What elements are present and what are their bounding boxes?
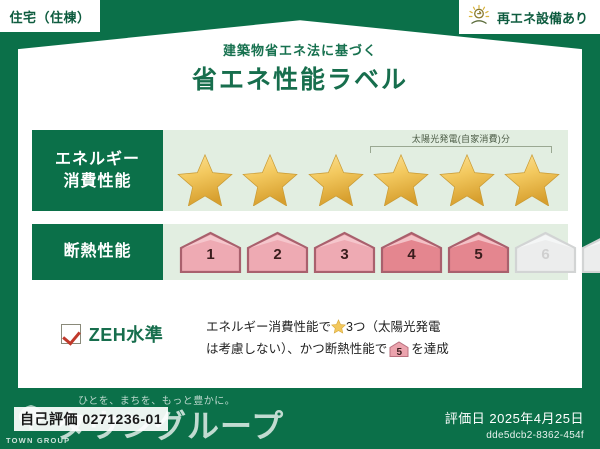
- insulation-performance-body: 1234567: [163, 224, 568, 280]
- inline-badge-value: 5: [389, 344, 409, 362]
- watermark-brand: タウングループ: [55, 401, 284, 447]
- zeh-desc-line2-part1: は考慮しない）、かつ断熱性能で: [206, 342, 387, 356]
- insulation-step-value: 2: [246, 246, 309, 263]
- insulation-step: 3: [313, 231, 376, 273]
- insulation-step-value: 3: [313, 246, 376, 263]
- evaluation-id: dde5dcb2-8362-454f: [445, 430, 584, 441]
- insulation-step: 6: [514, 231, 577, 273]
- label-subtitle: 建築物省エネ法に基づく: [0, 40, 600, 59]
- energy-label-card: 住宅（住棟） 再エネ設備あり 建築物省エネ法に基: [0, 0, 600, 449]
- renewable-equipment-badge: 再エネ設備あり: [459, 0, 600, 34]
- energy-star-rating: [177, 151, 560, 207]
- zeh-desc-part1: エネルギー消費性能で: [206, 320, 331, 334]
- insulation-performance-row: 断熱性能 1234567: [32, 224, 568, 280]
- star-icon: [504, 153, 560, 206]
- solar-annotation: 太陽光発電(自家消費)分: [370, 132, 552, 153]
- insulation-step: 1: [179, 231, 242, 273]
- insulation-step: 5: [447, 231, 510, 273]
- star-icon: [177, 153, 233, 206]
- star-icon: [242, 153, 298, 206]
- insulation-step: 4: [380, 231, 443, 273]
- energy-performance-label: エネルギー 消費性能: [32, 130, 163, 211]
- energy-label-line2: 消費性能: [63, 171, 131, 193]
- insulation-label-text: 断熱性能: [63, 241, 131, 263]
- housing-type-chip: 住宅（住棟）: [0, 0, 100, 32]
- sun-solar-icon: [467, 4, 491, 31]
- insulation-scale: 1234567: [179, 231, 600, 273]
- watermark-group-mark: TOWN GROUP: [6, 436, 70, 445]
- zeh-desc-part2: 3つ（太陽光発電: [346, 320, 440, 334]
- insulation-performance-label: 断熱性能: [32, 224, 163, 280]
- insulation-step-value: 4: [380, 246, 443, 263]
- energy-label-line1: エネルギー: [55, 149, 140, 171]
- watermark-tagline: ひとを、まちを、もっと豊かに。: [78, 392, 235, 407]
- zeh-chip: ZEH水準: [32, 315, 192, 347]
- insulation-level-badge-inline: 5: [389, 341, 409, 357]
- tree-logo-icon: [14, 403, 48, 433]
- zeh-desc-line2-part2: を達成: [411, 342, 449, 356]
- footer-meta: 評価日 2025年4月25日 dde5dcb2-8362-454f: [445, 408, 584, 441]
- insulation-step: 7: [581, 231, 600, 273]
- housing-type-label: 住宅（住棟）: [9, 7, 90, 26]
- page-title: 省エネ性能ラベル: [0, 60, 600, 96]
- solar-annotation-text: 太陽光発電(自家消費)分: [370, 132, 552, 145]
- star-icon: [439, 153, 495, 206]
- star-icon: [308, 153, 364, 206]
- insulation-step-value: 7: [581, 246, 600, 263]
- renewable-badge-label: 再エネ設備あり: [497, 8, 588, 27]
- zeh-section: ZEH水準 エネルギー消費性能で3つ（太陽光発電 は考慮しない）、かつ断熱性能で…: [32, 315, 568, 361]
- energy-performance-row: エネルギー 消費性能 太陽光発電(自家消費)分: [32, 130, 568, 211]
- watermark-overlay: ひとを、まちを、もっと豊かに。 タウングループ TOWN GROUP 自己評価 …: [0, 387, 440, 449]
- insulation-step-value: 1: [179, 246, 242, 263]
- zeh-checkbox-checked-icon: [61, 324, 81, 344]
- self-evaluation-stamp: 自己評価 0271236-01: [14, 407, 168, 431]
- star-icon: [331, 319, 346, 334]
- energy-performance-body: 太陽光発電(自家消費)分: [163, 130, 568, 211]
- evaluation-date: 評価日 2025年4月25日: [445, 408, 584, 427]
- zeh-label: ZEH水準: [89, 321, 164, 347]
- zeh-description: エネルギー消費性能で3つ（太陽光発電 は考慮しない）、かつ断熱性能で5を達成: [206, 315, 568, 361]
- insulation-step: 2: [246, 231, 309, 273]
- insulation-step-value: 5: [447, 246, 510, 263]
- insulation-step-value: 6: [514, 246, 577, 263]
- star-icon: [373, 153, 429, 206]
